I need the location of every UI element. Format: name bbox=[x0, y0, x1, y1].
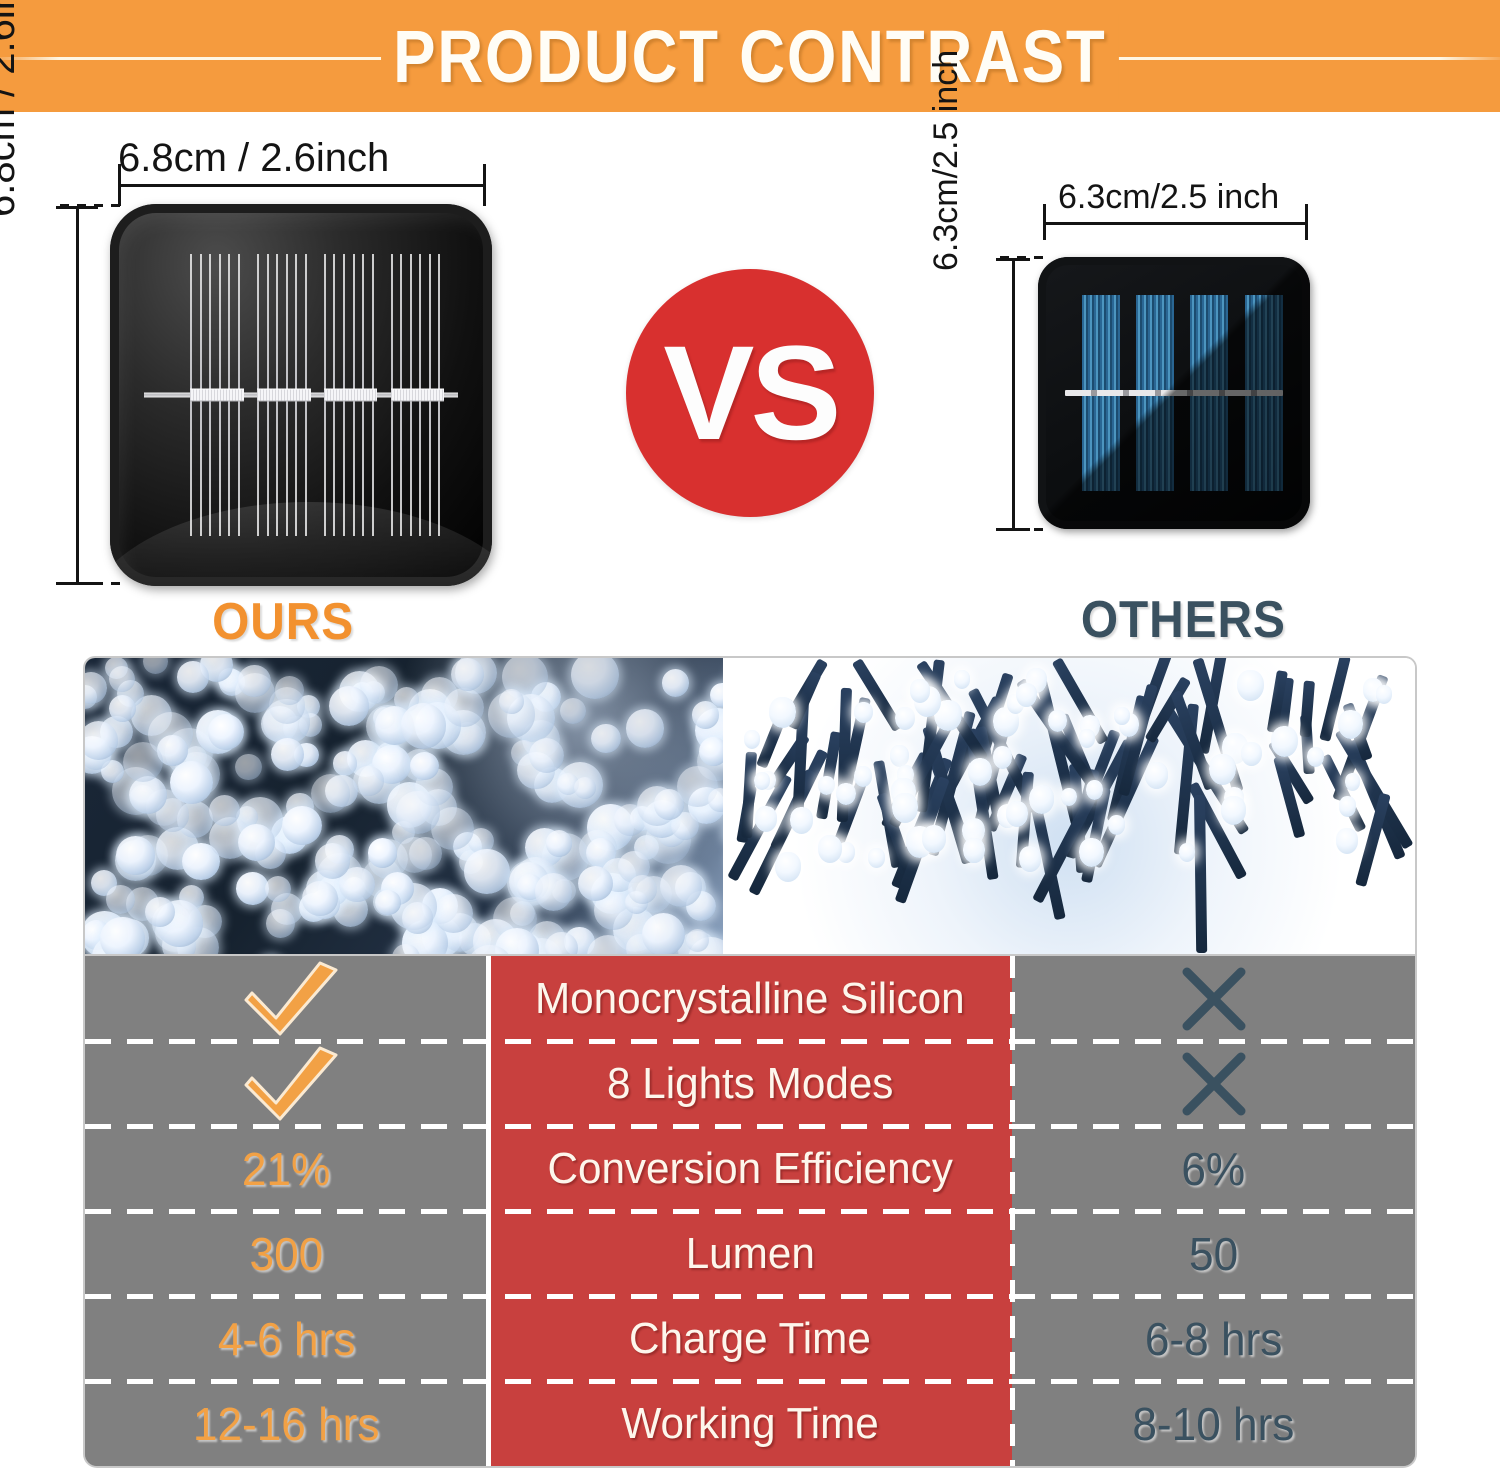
others-width-cap-left bbox=[1043, 204, 1046, 240]
led-bulb bbox=[1345, 773, 1361, 791]
table-row: 300Lumen50 bbox=[85, 1211, 1415, 1296]
check-icon bbox=[232, 960, 342, 1038]
led-bulb bbox=[968, 758, 993, 786]
others-width-cap-right bbox=[1305, 204, 1308, 240]
led-bulb bbox=[963, 838, 984, 863]
led-bulb bbox=[1019, 846, 1041, 872]
ours-value-text: 4-6 hrs bbox=[218, 1312, 355, 1366]
led-bulb bbox=[282, 806, 322, 846]
feature-name-cell: Conversion Efficiency bbox=[488, 1126, 1012, 1211]
led-bulb bbox=[1145, 762, 1168, 789]
others-value-cell bbox=[1012, 1041, 1415, 1126]
ours-bottom-extension-line bbox=[60, 582, 122, 585]
poly-busbar bbox=[1065, 390, 1283, 396]
page-title-text: PRODUCT CONTRAST bbox=[381, 14, 1118, 99]
led-bulb bbox=[1338, 710, 1363, 739]
led-bulb bbox=[591, 724, 620, 753]
vs-label: VS bbox=[663, 317, 837, 470]
cross-icon bbox=[1175, 960, 1253, 1038]
feature-name-text: Charge Time bbox=[629, 1314, 871, 1364]
ours-height-dimension-line bbox=[76, 206, 79, 584]
feature-name-cell: 8 Lights Modes bbox=[488, 1041, 1012, 1126]
led-bulb bbox=[754, 772, 770, 790]
others-value-text: 6% bbox=[1182, 1142, 1246, 1196]
led-bulb bbox=[775, 852, 801, 882]
others-value-cell: 8-10 hrs bbox=[1012, 1381, 1415, 1466]
led-bulb bbox=[535, 873, 572, 910]
led-bulb bbox=[854, 702, 872, 723]
led-bulb bbox=[170, 761, 213, 804]
led-bulb bbox=[578, 866, 613, 901]
led-bulb bbox=[266, 909, 295, 938]
led-bulb bbox=[464, 849, 509, 894]
led-bulb bbox=[560, 698, 586, 724]
led-bulb bbox=[1221, 796, 1246, 825]
others-width-dimension-line bbox=[1043, 222, 1308, 225]
led-bulb bbox=[545, 932, 577, 956]
led-bulb bbox=[1307, 747, 1324, 767]
ours-value-cell bbox=[85, 1041, 488, 1126]
feature-name-text: 8 Lights Modes bbox=[607, 1059, 893, 1109]
others-value-text: 6-8 hrs bbox=[1145, 1312, 1282, 1366]
mono-busbar-segment-3 bbox=[324, 389, 377, 402]
panel-comparison-section: 6.8cm / 2.6inch 6.8cm / 2.6inch bbox=[0, 112, 1500, 655]
led-bulb bbox=[238, 824, 275, 861]
ours-value-cell: 12-16 hrs bbox=[85, 1381, 488, 1466]
table-row: Monocrystalline Silicon bbox=[85, 956, 1415, 1041]
led-bulb bbox=[993, 746, 1013, 769]
page-title: PRODUCT CONTRAST bbox=[0, 0, 1500, 112]
ours-width-label: 6.8cm / 2.6inch bbox=[118, 136, 389, 181]
led-bulb bbox=[311, 774, 350, 813]
ours-caption: OURS bbox=[212, 592, 354, 652]
feature-name-cell: Monocrystalline Silicon bbox=[488, 956, 1012, 1041]
ours-value-text: 12-16 hrs bbox=[193, 1397, 380, 1451]
ours-value-cell: 21% bbox=[85, 1126, 488, 1211]
led-bulb bbox=[106, 885, 134, 913]
led-bulb bbox=[100, 917, 144, 956]
ours-solar-panel-image bbox=[110, 204, 492, 586]
feature-name-cell: Working Time bbox=[488, 1381, 1012, 1466]
check-icon bbox=[232, 1045, 342, 1123]
feature-name-cell: Charge Time bbox=[488, 1296, 1012, 1381]
ours-led-photo bbox=[85, 658, 723, 956]
ours-height-label: 6.8cm / 2.6inch bbox=[0, 0, 24, 217]
mono-busbar-segment-4 bbox=[391, 389, 444, 402]
led-bulb bbox=[402, 902, 433, 933]
led-bulb bbox=[628, 875, 657, 904]
led-bulb bbox=[574, 777, 596, 799]
others-caption: OTHERS bbox=[1081, 590, 1286, 650]
led-bulb bbox=[1108, 815, 1125, 835]
led-bulb bbox=[401, 703, 446, 748]
led-bulb bbox=[1114, 707, 1129, 725]
ours-width-cap-right bbox=[483, 164, 486, 206]
feature-name-text: Conversion Efficiency bbox=[547, 1144, 952, 1194]
led-bulb bbox=[375, 890, 401, 916]
others-solar-panel-image bbox=[1038, 257, 1310, 529]
led-bulb bbox=[854, 766, 872, 787]
led-bulb bbox=[1029, 785, 1054, 814]
comparison-table: Monocrystalline Silicon8 Lights Modes21%… bbox=[85, 956, 1415, 1466]
led-bulb bbox=[922, 825, 946, 853]
led-bulb bbox=[626, 709, 664, 747]
table-row: 4-6 hrsCharge Time6-8 hrs bbox=[85, 1296, 1415, 1381]
led-bulb bbox=[910, 679, 930, 702]
others-value-text: 8-10 hrs bbox=[1133, 1397, 1295, 1451]
others-width-label: 6.3cm/2.5 inch bbox=[1058, 178, 1279, 217]
feature-name-cell: Lumen bbox=[488, 1211, 1012, 1296]
others-led-photo bbox=[723, 658, 1415, 956]
led-bulb bbox=[954, 670, 970, 688]
led-bulb bbox=[1339, 796, 1357, 817]
ours-value-cell: 4-6 hrs bbox=[85, 1296, 488, 1381]
cross-icon bbox=[1175, 1045, 1253, 1123]
led-bulb bbox=[275, 676, 304, 705]
led-bulb bbox=[451, 658, 484, 691]
led-bulb bbox=[434, 894, 473, 933]
led-bulb bbox=[895, 707, 915, 730]
ours-value-text: 21% bbox=[242, 1142, 330, 1196]
ours-height-cap-top bbox=[56, 206, 98, 209]
led-bulb bbox=[744, 730, 760, 749]
led-bulb bbox=[302, 881, 337, 916]
others-height-label: 6.3cm/2.5 inch bbox=[927, 0, 966, 271]
led-bulb bbox=[1079, 729, 1095, 748]
vs-badge: VS bbox=[626, 269, 874, 517]
led-bulb bbox=[868, 848, 885, 867]
led-bulb bbox=[208, 714, 244, 750]
led-bulb bbox=[396, 791, 440, 835]
led-bulb bbox=[1376, 685, 1392, 704]
led-bulb bbox=[1179, 843, 1195, 862]
mono-busbar-segment-2 bbox=[257, 389, 310, 402]
others-bottom-extension-line bbox=[1000, 528, 1046, 531]
feature-name-text: Working Time bbox=[621, 1399, 878, 1449]
others-value-cell: 6% bbox=[1012, 1126, 1415, 1211]
led-bulb bbox=[353, 766, 383, 796]
ours-width-dimension-line bbox=[118, 184, 486, 187]
led-bulb bbox=[790, 807, 813, 833]
feature-name-text: Lumen bbox=[685, 1229, 814, 1279]
others-value-text: 50 bbox=[1189, 1227, 1238, 1281]
comparison-table-rows: Monocrystalline Silicon8 Lights Modes21%… bbox=[85, 956, 1415, 1466]
led-bulb bbox=[499, 689, 524, 714]
led-bulb bbox=[333, 751, 358, 776]
ours-value-text: 300 bbox=[250, 1227, 324, 1281]
led-bulb bbox=[1086, 780, 1103, 799]
led-bulb bbox=[271, 738, 304, 771]
others-value-cell bbox=[1012, 956, 1415, 1041]
table-row: 21%Conversion Efficiency6% bbox=[85, 1126, 1415, 1211]
led-bulb bbox=[642, 913, 685, 956]
led-bulb bbox=[1336, 828, 1359, 854]
led-bulb bbox=[410, 752, 438, 780]
feature-name-text: Monocrystalline Silicon bbox=[535, 974, 965, 1024]
others-value-cell: 50 bbox=[1012, 1211, 1415, 1296]
led-bulb bbox=[529, 738, 564, 773]
led-bulb bbox=[238, 665, 270, 697]
ours-value-cell bbox=[85, 956, 488, 1041]
led-bulb bbox=[1209, 754, 1236, 785]
table-row: 12-16 hrsWorking Time8-10 hrs bbox=[85, 1381, 1415, 1466]
led-bulb bbox=[818, 835, 842, 863]
ours-value-cell: 300 bbox=[85, 1211, 488, 1296]
led-bulb bbox=[1061, 788, 1077, 806]
led-bulb bbox=[444, 688, 483, 727]
others-height-dimension-line bbox=[1012, 258, 1015, 530]
led-bulb bbox=[329, 686, 369, 726]
led-bulb bbox=[265, 876, 291, 902]
others-height-cap-top bbox=[996, 258, 1030, 261]
led-bulb bbox=[116, 836, 155, 875]
led-bulb bbox=[662, 669, 689, 696]
led-bulb bbox=[109, 695, 136, 722]
led-bulb bbox=[699, 737, 723, 766]
led-bulb bbox=[409, 837, 442, 870]
others-value-cell: 6-8 hrs bbox=[1012, 1296, 1415, 1381]
page-header-banner: PRODUCT CONTRAST bbox=[0, 0, 1500, 112]
mono-busbar-segment-1 bbox=[190, 389, 243, 402]
led-bulb bbox=[235, 754, 262, 781]
product-photo-strip bbox=[85, 658, 1415, 956]
led-bulb bbox=[1079, 838, 1104, 867]
table-row: 8 Lights Modes bbox=[85, 1041, 1415, 1126]
led-bulb bbox=[177, 661, 209, 693]
led-bulb bbox=[1271, 726, 1298, 757]
led-bulb bbox=[145, 897, 175, 927]
